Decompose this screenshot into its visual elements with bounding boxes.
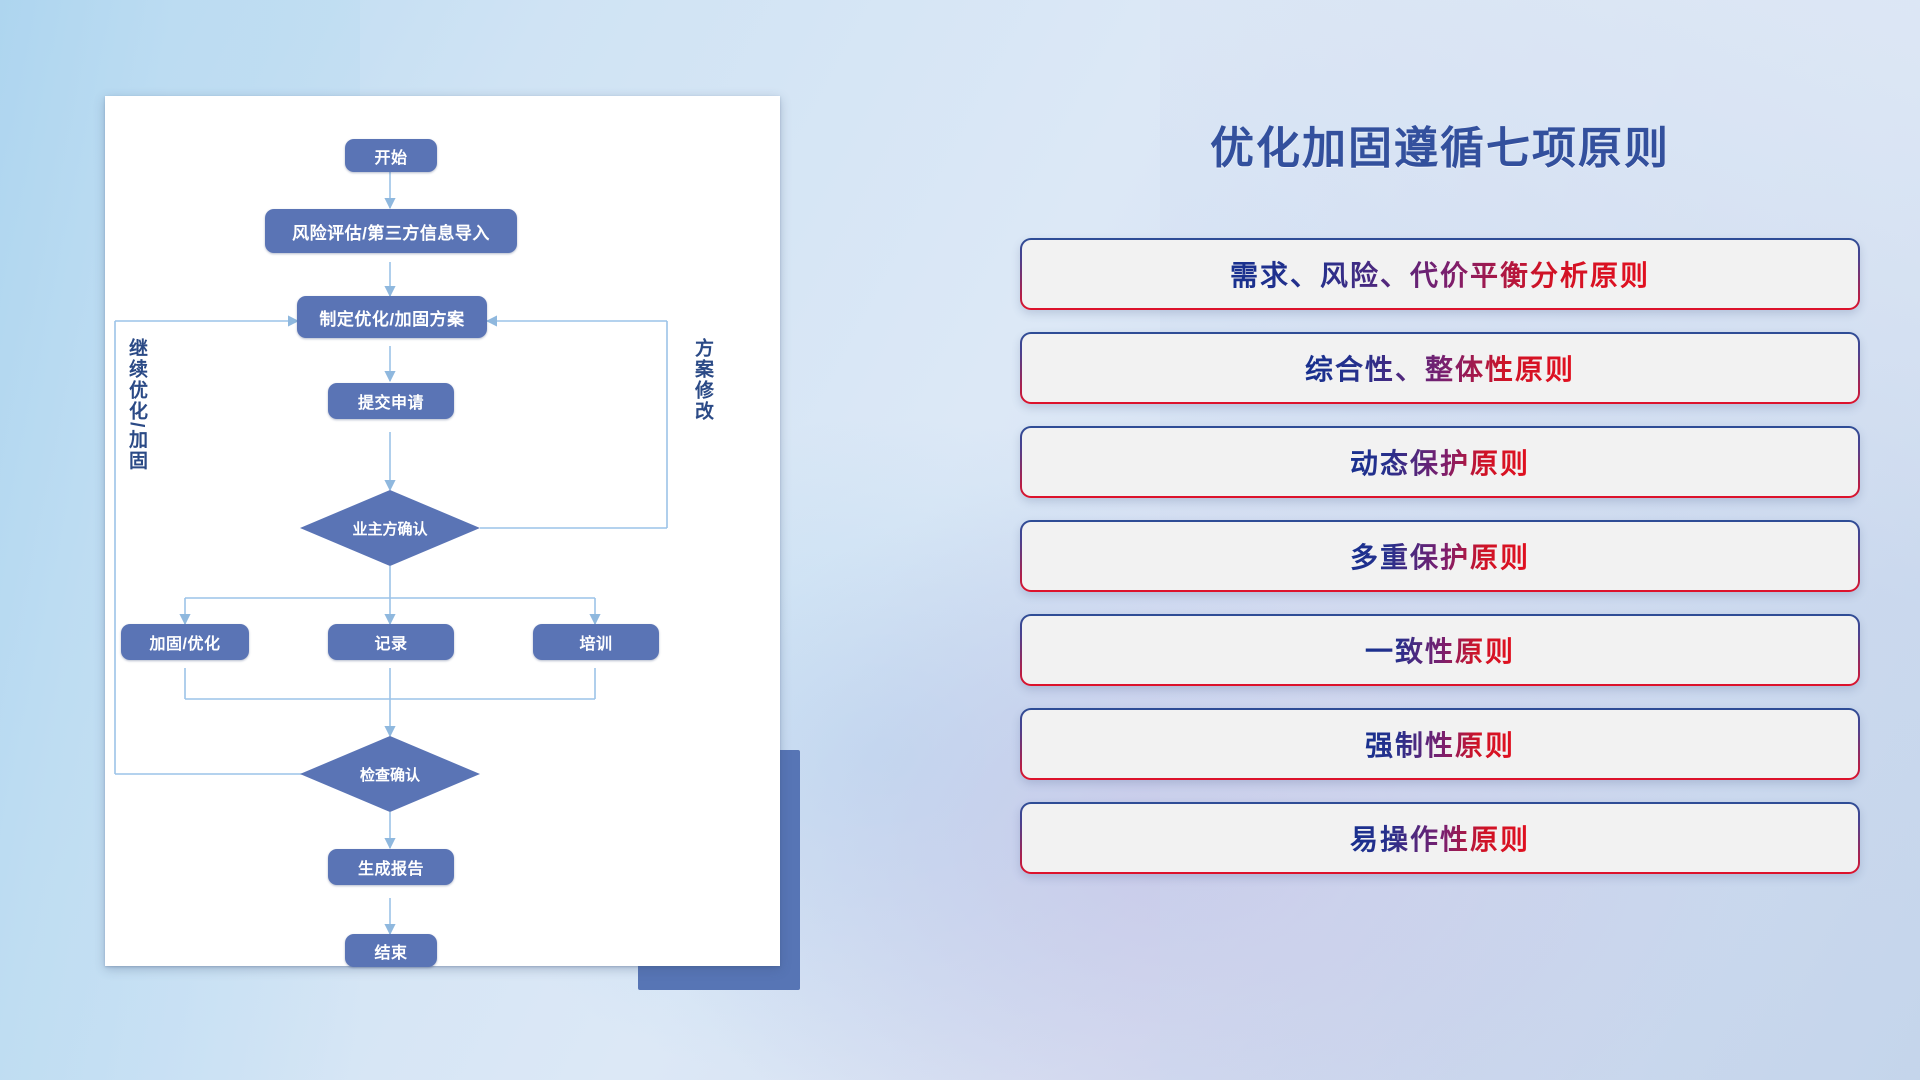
edge-label-plan-revision: 方案修改 [693,338,712,478]
flow-node-label: 生成报告 [358,855,424,879]
flow-node-label: 风险评估/第三方信息导入 [292,219,490,244]
principle-card[interactable]: 易操作性原则 [1020,802,1860,874]
page-title: 优化加固遵循七项原则 [960,112,1920,176]
principle-card[interactable]: 多重保护原则 [1020,520,1860,592]
principle-label: 综合性、整体性原则 [1305,348,1575,388]
flow-node-label: 培训 [579,630,612,654]
flowchart: 开始 风险评估/第三方信息导入 制定优化/加固方案 提交申请 业主方确认 加固/… [105,96,780,966]
flow-node-label: 检查确认 [360,764,420,785]
flow-node-submit[interactable]: 提交申请 [328,383,454,419]
flow-node-reinforce[interactable]: 加固/优化 [121,624,249,660]
flowchart-stage: 开始 风险评估/第三方信息导入 制定优化/加固方案 提交申请 业主方确认 加固/… [0,0,960,1080]
flow-node-label: 提交申请 [358,389,424,413]
principles-stage: 优化加固遵循七项原则 需求、风险、代价平衡分析原则 综合性、整体性原则 动态保护… [960,0,1920,1080]
principles-list: 需求、风险、代价平衡分析原则 综合性、整体性原则 动态保护原则 多重保护原则 一… [1020,238,1860,896]
flow-node-risk-assessment[interactable]: 风险评估/第三方信息导入 [265,209,517,253]
principle-card[interactable]: 综合性、整体性原则 [1020,332,1860,404]
edge-label-continue-optimize: 继续优化/加固 [127,338,146,518]
flow-node-record[interactable]: 记录 [328,624,454,660]
flow-node-report[interactable]: 生成报告 [328,849,454,885]
flow-node-label: 开始 [374,144,407,168]
flow-node-training[interactable]: 培训 [533,624,659,660]
flow-node-label: 业主方确认 [352,518,427,539]
principle-label: 强制性原则 [1365,724,1515,764]
flow-node-label: 记录 [374,630,407,654]
principle-label: 易操作性原则 [1350,818,1530,858]
principle-label: 多重保护原则 [1350,536,1530,576]
flowchart-panel: 开始 风险评估/第三方信息导入 制定优化/加固方案 提交申请 业主方确认 加固/… [105,96,780,966]
flow-node-label: 制定优化/加固方案 [319,305,464,330]
principle-card[interactable]: 一致性原则 [1020,614,1860,686]
flow-node-label: 加固/优化 [150,630,221,654]
principle-card[interactable]: 需求、风险、代价平衡分析原则 [1020,238,1860,310]
flow-node-label: 结束 [374,939,407,963]
flow-node-end[interactable]: 结束 [345,934,437,967]
flow-node-start[interactable]: 开始 [345,139,437,172]
principle-card[interactable]: 强制性原则 [1020,708,1860,780]
flow-node-plan[interactable]: 制定优化/加固方案 [297,296,487,338]
principle-label: 需求、风险、代价平衡分析原则 [1230,254,1650,294]
principle-label: 一致性原则 [1365,630,1515,670]
principle-card[interactable]: 动态保护原则 [1020,426,1860,498]
principle-label: 动态保护原则 [1350,442,1530,482]
